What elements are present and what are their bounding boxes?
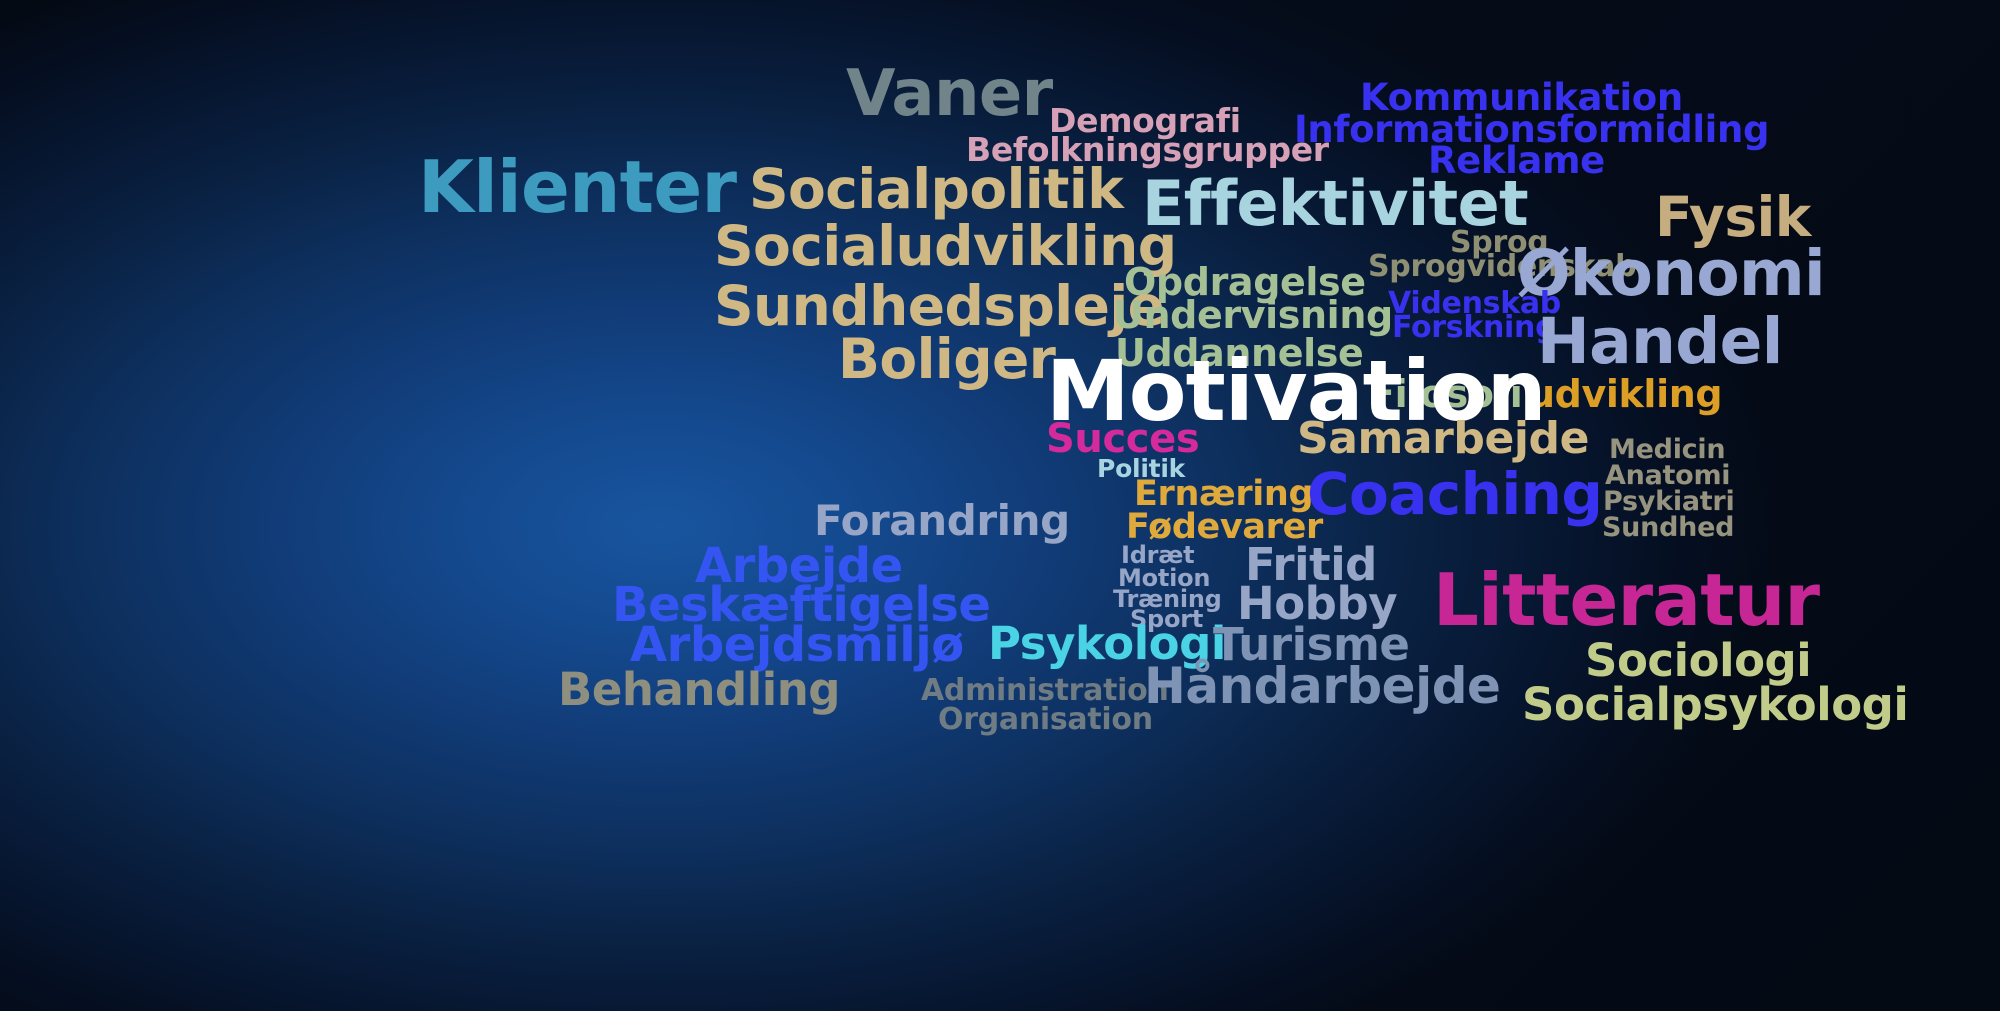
word-cloud-term: Forandring (814, 500, 1070, 542)
word-cloud-term: Litteratur (1433, 564, 1819, 636)
word-cloud-term: Sundhedspleje (714, 279, 1164, 334)
word-cloud-term: Medicin (1609, 436, 1725, 463)
word-cloud-term: Vaner (846, 62, 1053, 126)
word-cloud-canvas: VanerDemografiBefolkningsgrupperKommunik… (0, 0, 2000, 1011)
word-cloud-term: Psykiatri (1603, 488, 1734, 515)
word-cloud-term: udvikling (1528, 375, 1722, 413)
word-cloud-term: Arbejdsmiljø (630, 621, 964, 669)
word-cloud-term: Behandling (558, 667, 840, 712)
word-cloud-term: Socialpsykologi (1522, 682, 1908, 727)
word-cloud-term: Succes (1046, 419, 1199, 459)
word-cloud-term: Undervisning (1113, 296, 1393, 334)
word-cloud-term: Samarbejde (1297, 417, 1589, 461)
word-cloud-term: Organisation (938, 705, 1153, 735)
word-cloud-term: Boliger (838, 332, 1055, 387)
word-cloud-term: Socialudvikling (714, 219, 1177, 274)
word-cloud-term: Økonomi (1517, 242, 1825, 305)
word-cloud-term: Handel (1537, 310, 1783, 373)
word-cloud-term: Socialpolitik (749, 162, 1123, 217)
word-cloud-term: Anatomi (1605, 462, 1730, 489)
word-cloud-term: Sundhed (1602, 514, 1734, 541)
word-cloud-term: Håndarbejde (1144, 661, 1500, 711)
word-cloud-term: Sociologi (1585, 638, 1811, 683)
word-cloud-term: Coaching (1307, 465, 1602, 523)
word-cloud-term: Klienter (418, 151, 736, 223)
word-cloud-term: Forskning (1392, 313, 1556, 343)
